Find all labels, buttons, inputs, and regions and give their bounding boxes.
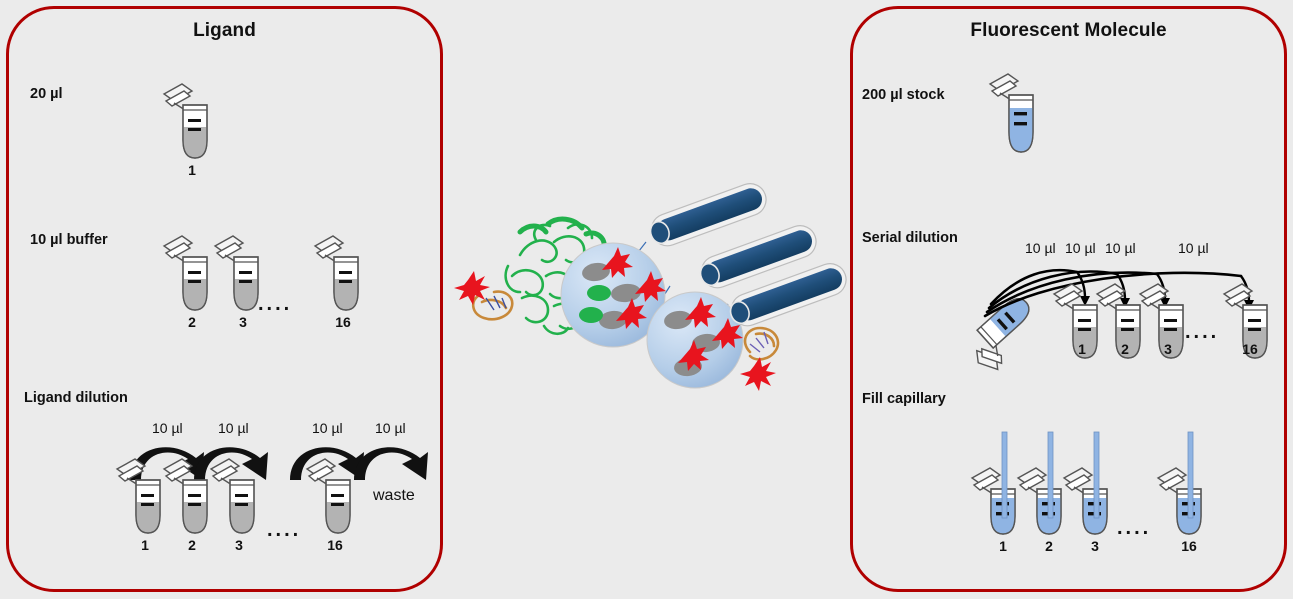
step-label-20ul: 20 µl <box>30 86 63 102</box>
panel-fluorescent-title: Fluorescent Molecule <box>850 20 1287 42</box>
panel-ligand-title: Ligand <box>6 20 443 42</box>
transfer-volume-label: 10 µl <box>1065 240 1096 256</box>
tube-number: 3 <box>1153 341 1183 357</box>
center-illustration <box>450 180 850 400</box>
tube-number: 3 <box>1080 538 1110 554</box>
tube-number: 3 <box>224 537 254 553</box>
tube-ligand-1 <box>152 80 222 170</box>
transfer-volume-label: 10 µl <box>1105 240 1136 256</box>
tube-dilution-16 <box>295 455 365 545</box>
tube-number: 16 <box>1174 538 1204 554</box>
droplet-unbound <box>647 292 743 388</box>
capillary-1 <box>646 179 771 250</box>
transfer-volume-label: 10 µl <box>1025 240 1056 256</box>
figure-canvas: Ligand 20 µl 1 10 µl buffer <box>0 0 1293 599</box>
transfer-volume-label: 10 µl <box>1178 240 1209 256</box>
tube-number: 3 <box>228 314 258 330</box>
tube-stock <box>978 70 1048 170</box>
tube-dilution-3 <box>199 455 269 545</box>
tube-number: 1 <box>177 162 207 178</box>
tube-buffer-16 <box>303 232 373 322</box>
step-label-ligand-dilution: Ligand dilution <box>24 390 128 406</box>
step-label-serial-dilution: Serial dilution <box>862 230 958 246</box>
tube-number: 1 <box>988 538 1018 554</box>
step-label-buffer: 10 µl buffer <box>30 232 108 248</box>
labeled-aptamer-right <box>740 328 778 391</box>
tube-capillary-16 <box>1148 430 1228 540</box>
labeled-aptamer-left <box>454 271 512 319</box>
tube-number: 2 <box>1034 538 1064 554</box>
tube-number: 16 <box>328 314 358 330</box>
step-label-fill-capillary: Fill capillary <box>862 391 946 407</box>
waste-label: waste <box>373 487 415 505</box>
ellipsis: .... <box>1117 518 1151 538</box>
tube-number: 16 <box>1235 341 1265 357</box>
step-label-stock: 200 µl stock <box>862 87 945 103</box>
ellipsis: .... <box>258 294 292 314</box>
tube-number: 16 <box>320 537 350 553</box>
dye-star-icon <box>740 357 776 391</box>
